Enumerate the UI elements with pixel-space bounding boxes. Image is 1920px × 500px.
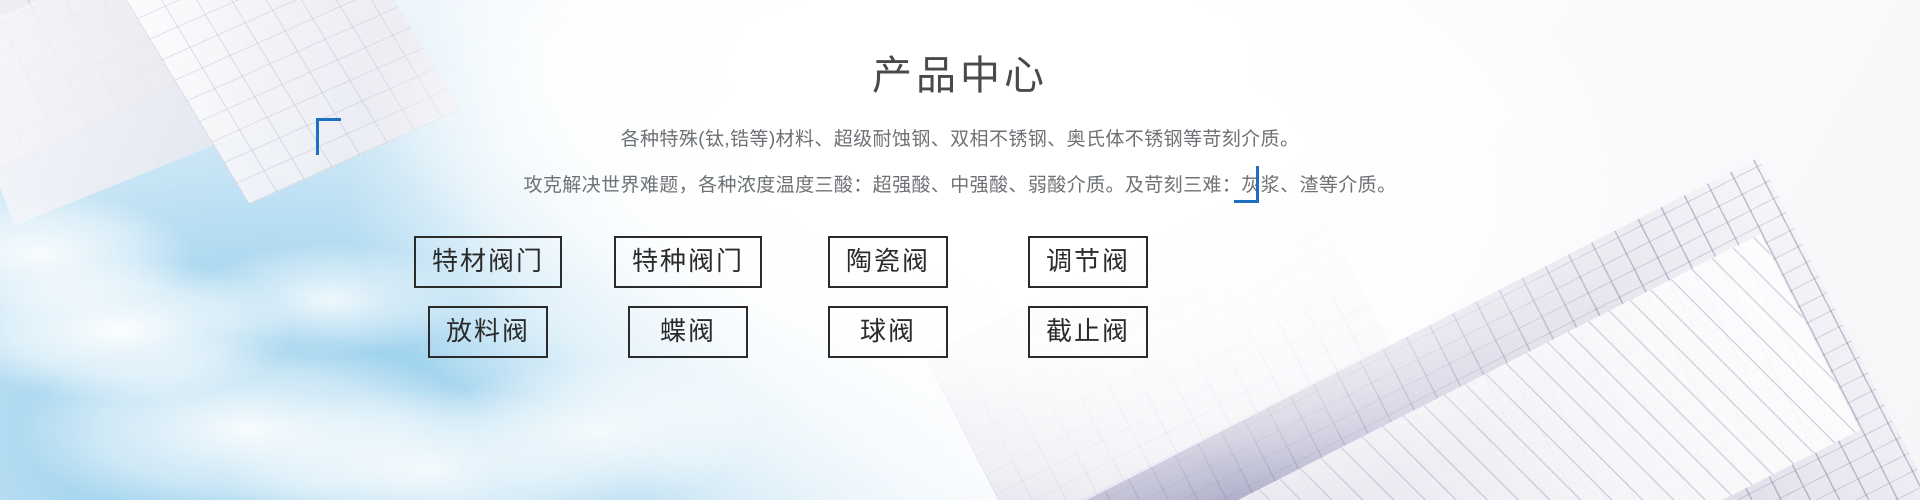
product-category-grid: 特材阀门 特种阀门 陶瓷阀 调节阀 放料阀 蝶阀 球阀 截止阀 [388,236,1188,358]
category-cell: 球阀 [788,306,988,358]
product-center-banner: 产品中心 各种特殊(钛,锆等)材料、超级耐蚀钢、双相不锈钢、奥氏体不锈钢等苛刻介… [0,0,1920,500]
description-line-1: 各种特殊(钛,锆等)材料、超级耐蚀钢、双相不锈钢、奥氏体不锈钢等苛刻介质。 [0,126,1920,155]
category-cell: 特种阀门 [588,236,788,288]
category-cell: 截止阀 [988,306,1188,358]
category-button-control-valve[interactable]: 调节阀 [1028,236,1148,288]
category-button-special-valve[interactable]: 特种阀门 [614,236,762,288]
category-cell: 放料阀 [388,306,588,358]
category-button-discharge-valve[interactable]: 放料阀 [428,306,548,358]
category-cell: 调节阀 [988,236,1188,288]
corner-bracket-bottom-right-icon [1234,166,1259,203]
category-button-butterfly-valve[interactable]: 蝶阀 [628,306,748,358]
description-line-2: 攻克解决世界难题，各种浓度温度三酸：超强酸、中强酸、弱酸介质。及苛刻三难：灰浆、… [0,172,1920,201]
category-button-ceramic-valve[interactable]: 陶瓷阀 [828,236,948,288]
category-button-ball-valve[interactable]: 球阀 [828,306,948,358]
category-cell: 蝶阀 [588,306,788,358]
category-cell: 特材阀门 [388,236,588,288]
category-cell: 陶瓷阀 [788,236,988,288]
page-title: 产品中心 [0,52,1920,100]
category-button-globe-valve[interactable]: 截止阀 [1028,306,1148,358]
category-button-techai-valve[interactable]: 特材阀门 [414,236,562,288]
banner-content: 产品中心 各种特殊(钛,锆等)材料、超级耐蚀钢、双相不锈钢、奥氏体不锈钢等苛刻介… [0,0,1920,500]
